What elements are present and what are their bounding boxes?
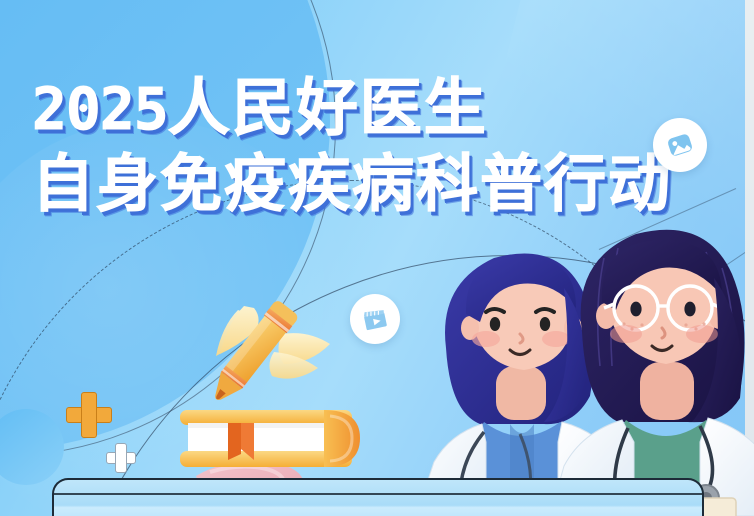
page-title: 2025人民好医生 自身免疫疾病科普行动 xyxy=(32,78,692,216)
desk-edge-line xyxy=(54,493,702,495)
title-year: 2025 xyxy=(32,75,168,143)
clapperboard-icon xyxy=(360,304,390,334)
video-badge[interactable] xyxy=(350,294,400,344)
title-line-1: 2025人民好医生 xyxy=(32,78,692,140)
plus-icon-orange xyxy=(66,392,110,436)
title-line-2: 自身免疫疾病科普行动 xyxy=(32,154,692,216)
doctor-right-illustration xyxy=(556,216,754,516)
image-icon xyxy=(664,129,696,161)
photo-badge[interactable] xyxy=(653,118,707,172)
title-line-1-text: 人民好医生 xyxy=(168,74,488,143)
desk xyxy=(52,478,704,516)
poster-canvas: 2025人民好医生 自身免疫疾病科普行动 xyxy=(0,0,754,516)
book-icon xyxy=(174,402,374,482)
plus-icon-white xyxy=(106,443,134,471)
